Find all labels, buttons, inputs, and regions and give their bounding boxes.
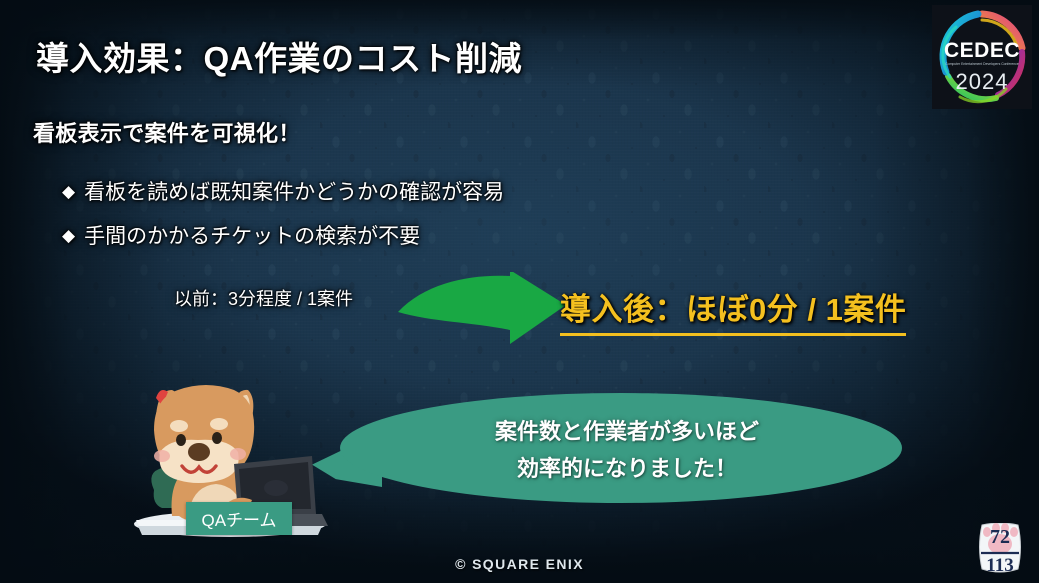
page-number-badge: 72 113 xyxy=(970,523,1030,579)
total-page-number: 113 xyxy=(986,555,1013,576)
callout-bubble-text: 案件数と作業者が多いほど 効率的になりました！ xyxy=(312,393,902,503)
qa-team-label: QAチーム xyxy=(186,502,292,535)
svg-text:Computer Entertainment Develop: Computer Entertainment Developers Confer… xyxy=(945,62,1019,66)
cedec-logo-icon: CEDEC Computer Entertainment Developers … xyxy=(932,5,1032,109)
slide-subtitle: 看板表示で案件を可視化！ xyxy=(33,116,301,148)
current-page-number: 72 xyxy=(990,526,1010,548)
bullet-item-label: 看板を読めば既知案件かどうかの確認が容易 xyxy=(84,176,504,206)
bullet-item-label: 手間のかかるチケットの検索が不要 xyxy=(84,220,420,250)
callout-bubble: 案件数と作業者が多いほど 効率的になりました！ xyxy=(312,393,902,503)
svg-text:2024: 2024 xyxy=(956,69,1009,94)
slide-title: 導入効果：QA作業のコスト削減 xyxy=(36,32,522,80)
right-arrow-icon xyxy=(398,272,566,346)
callout-line-1: 案件数と作業者が多いほど xyxy=(495,414,759,446)
slide-canvas: 導入効果：QA作業のコスト削減 看板表示で案件を可視化！ ◆ 看板を読めば既知案… xyxy=(0,0,1039,583)
svg-text:CEDEC: CEDEC xyxy=(944,39,1020,62)
diamond-bullet-icon: ◆ xyxy=(62,183,75,200)
callout-line-2: 効率的になりました！ xyxy=(517,451,737,483)
copyright-footer: © SQUARE ENIX xyxy=(0,556,1039,572)
bullet-item: ◆ 手間のかかるチケットの検索が不要 xyxy=(62,220,420,250)
before-metric-label: 以前：3分程度 / 1案件 xyxy=(174,285,353,311)
bullet-item: ◆ 看板を読めば既知案件かどうかの確認が容易 xyxy=(62,176,504,206)
diamond-bullet-icon: ◆ xyxy=(62,227,75,244)
after-metric-label: 導入後：ほぼ0分 / 1案件 xyxy=(560,284,906,336)
